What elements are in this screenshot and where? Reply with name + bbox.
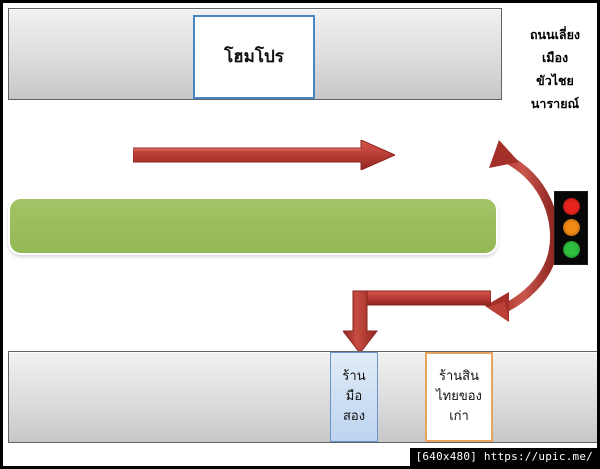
watermark: [640x480] https://upic.me/	[410, 448, 597, 466]
bypass-road-name-line-4: นารายณ์	[509, 92, 600, 115]
shop-thai-antique-line-2: ไทยของ	[436, 387, 482, 407]
traffic-light-orange-bulb	[563, 219, 580, 236]
road-bottom	[8, 351, 598, 443]
bypass-road-name: ถนนเลี่ยง เมือง ขัวไชย นารายณ์	[509, 23, 600, 116]
landmark-homepro: โฮมโปร	[193, 15, 315, 99]
landmark-homepro-label: โฮมโปร	[224, 47, 284, 67]
bent-arrow-icon	[343, 289, 491, 353]
shop-second-hand-line-1: ร้าน	[342, 367, 365, 387]
traffic-light-green-bulb	[563, 241, 580, 258]
shop-thai-antique-line-1: ร้านสิน	[439, 367, 479, 387]
straight-arrow-icon	[133, 140, 395, 170]
bypass-road-name-line-3: ขัวไชย	[509, 69, 600, 92]
shop-thai-antique-line-3: เก่า	[449, 407, 469, 427]
shop-thai-antique: ร้านสิน ไทยของ เก่า	[425, 352, 493, 442]
bypass-road-name-line-1: ถนนเลี่ยง	[509, 23, 600, 46]
bypass-road-name-line-2: เมือง	[509, 46, 600, 69]
road-median	[8, 197, 498, 255]
traffic-light-red-bulb	[563, 198, 580, 215]
map-diagram-canvas: โฮมโปร ถนนเลี่ยง เมือง ขัวไชย นารายณ์	[0, 0, 600, 469]
shop-second-hand: ร้าน มือ สอง	[330, 352, 378, 442]
shop-second-hand-line-2: มือ	[346, 387, 362, 407]
traffic-light	[554, 191, 588, 265]
shop-second-hand-line-3: สอง	[343, 407, 365, 427]
